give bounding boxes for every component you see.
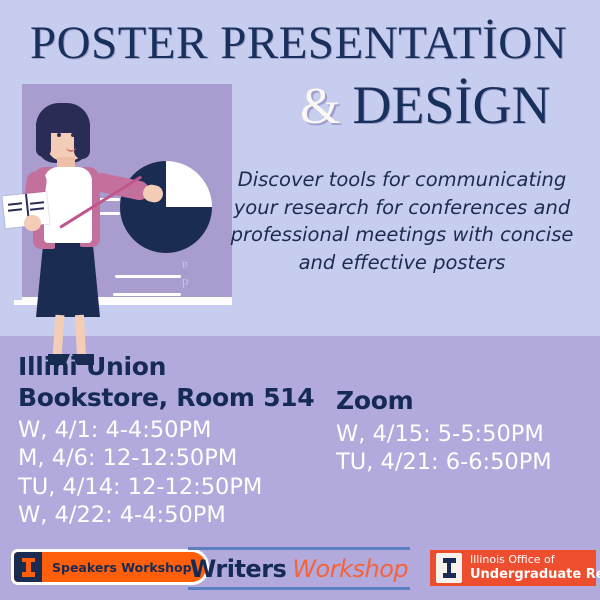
board-line bbox=[113, 293, 181, 296]
session-time: W, 4/22: 4-4:50PM bbox=[18, 501, 336, 529]
presenter-skirt bbox=[36, 238, 100, 317]
board-glyph: a bbox=[182, 258, 188, 274]
session-times-in-person: W, 4/1: 4-4:50PM M, 4/6: 12-12:50PM TU, … bbox=[18, 416, 336, 529]
logo-writers-word-2: Workshop bbox=[292, 555, 408, 583]
session-time: TU, 4/21: 6-6:50PM bbox=[336, 448, 596, 476]
presenter-eye bbox=[57, 133, 61, 137]
venue-name-zoom: Zoom bbox=[336, 386, 596, 417]
logo-speakers-workshop[interactable]: Speakers Workshop bbox=[14, 552, 206, 582]
presenter-eye bbox=[71, 133, 75, 137]
logo-uor-line-2: Undergraduate Research bbox=[470, 567, 600, 582]
presenter-eyebrow bbox=[69, 128, 77, 130]
logo-writers-word-1: Writers bbox=[190, 555, 286, 583]
presenter-hair-side bbox=[74, 119, 90, 159]
logo-undergraduate-research[interactable]: Illinois Office of Undergraduate Researc… bbox=[430, 550, 596, 586]
presenter-leg bbox=[75, 315, 86, 357]
session-time: W, 4/1: 4-4:50PM bbox=[18, 416, 336, 444]
illinois-i-icon bbox=[436, 553, 462, 583]
poster-description: Discover tools for communicating your re… bbox=[216, 166, 588, 277]
presenter-top bbox=[44, 167, 92, 243]
board-glyph: d bbox=[182, 275, 189, 291]
logo-uor-line-1: Illinois Office of bbox=[470, 554, 600, 567]
board-line bbox=[115, 275, 181, 278]
logo-uor-text: Illinois Office of Undergraduate Researc… bbox=[470, 554, 600, 582]
sessions-zoom: Zoom W, 4/15: 5-5:50PM TU, 4/21: 6-6:50P… bbox=[336, 386, 596, 476]
illinois-i-icon bbox=[14, 552, 42, 582]
logo-speakers-workshop-label: Speakers Workshop bbox=[42, 552, 206, 582]
venue-line-1: Illini Union bbox=[18, 352, 336, 383]
sessions-in-person: Illini Union Bookstore, Room 514 W, 4/1:… bbox=[18, 352, 336, 529]
pie-chart-icon bbox=[120, 161, 212, 253]
presenter-eyebrow bbox=[55, 128, 63, 130]
session-time: W, 4/15: 5-5:50PM bbox=[336, 420, 596, 448]
venue-name-in-person: Illini Union Bookstore, Room 514 bbox=[18, 352, 336, 413]
session-time: M, 4/6: 12-12:50PM bbox=[18, 444, 336, 472]
session-times-zoom: W, 4/15: 5-5:50PM TU, 4/21: 6-6:50PM bbox=[336, 420, 596, 477]
venue-line-2: Bookstore, Room 514 bbox=[18, 383, 336, 414]
presenter-hair-side bbox=[36, 119, 51, 157]
presenter-illustration: a d bbox=[0, 75, 232, 340]
logo-writers-workshop[interactable]: WritersWorkshop bbox=[188, 547, 410, 590]
poster: a d POSTER PRESENTATİON bbox=[0, 0, 600, 600]
presenter-hand-left bbox=[24, 215, 41, 231]
session-time: TU, 4/14: 12-12:50PM bbox=[18, 473, 336, 501]
footer-logos: Speakers Workshop WritersWorkshop Illino… bbox=[0, 542, 600, 600]
